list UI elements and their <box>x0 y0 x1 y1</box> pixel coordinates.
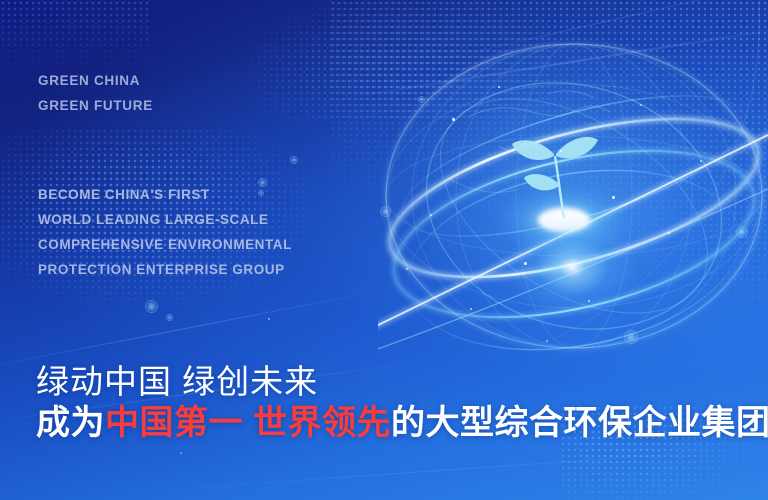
light-streak <box>121 448 760 494</box>
bokeh-dot <box>380 206 391 217</box>
mission-statement: BECOME CHINA'S FIRST WORLD LEADING LARGE… <box>38 182 292 282</box>
eyebrow-line: GREEN CHINA <box>38 68 153 93</box>
particle <box>498 86 500 88</box>
mission-line: BECOME CHINA'S FIRST <box>38 182 292 207</box>
particle <box>612 196 615 199</box>
banner-root: GREEN CHINA GREEN FUTURE BECOME CHINA'S … <box>0 0 768 500</box>
bokeh-dot <box>418 96 425 103</box>
halftone-world-map <box>250 0 550 120</box>
halftone-world-map <box>330 0 768 300</box>
particle <box>406 268 408 270</box>
glowing-wireframe-globe <box>378 38 768 368</box>
particle <box>452 118 455 121</box>
headline-primary: 绿动中国 绿创未来 <box>36 362 768 402</box>
green-sprout-icon <box>512 137 598 218</box>
light-streak <box>425 0 768 64</box>
headline-suffix: 的大型综合环保企业集团 <box>391 404 768 442</box>
globe-glow <box>352 10 768 410</box>
particle <box>546 340 548 342</box>
particle <box>180 452 182 454</box>
particle <box>640 104 642 106</box>
particle <box>588 300 590 302</box>
headline-prefix: 成为 <box>36 404 105 442</box>
mission-line: COMPREHENSIVE ENVIRONMENTAL <box>38 232 292 257</box>
particle <box>524 262 527 265</box>
headline-secondary: 成为中国第一 世界领先的大型综合环保企业集团 <box>36 402 768 444</box>
light-streak <box>0 289 386 372</box>
headline-highlight: 中国第一 世界领先 <box>105 404 391 442</box>
particle <box>668 232 670 234</box>
headline-block: 绿动中国 绿创未来 成为中国第一 世界领先的大型综合环保企业集团 <box>36 362 768 444</box>
eyebrow-slogan: GREEN CHINA GREEN FUTURE <box>38 68 153 118</box>
bokeh-dot <box>145 300 158 313</box>
halftone-world-map <box>0 0 150 70</box>
particle <box>470 308 472 310</box>
bokeh-dot <box>624 330 638 344</box>
mission-line: WORLD LEADING LARGE-SCALE <box>38 207 292 232</box>
core-glow <box>500 200 690 350</box>
mission-line: PROTECTION ENTERPRISE GROUP <box>38 257 292 282</box>
particle <box>560 150 562 152</box>
eyebrow-line: GREEN FUTURE <box>38 93 153 118</box>
particle <box>430 214 432 216</box>
bokeh-dot <box>166 314 173 321</box>
particle <box>268 318 270 320</box>
particle <box>700 160 702 162</box>
light-streak <box>333 25 768 100</box>
bokeh-dot <box>290 156 298 164</box>
bokeh-dot <box>736 226 748 238</box>
